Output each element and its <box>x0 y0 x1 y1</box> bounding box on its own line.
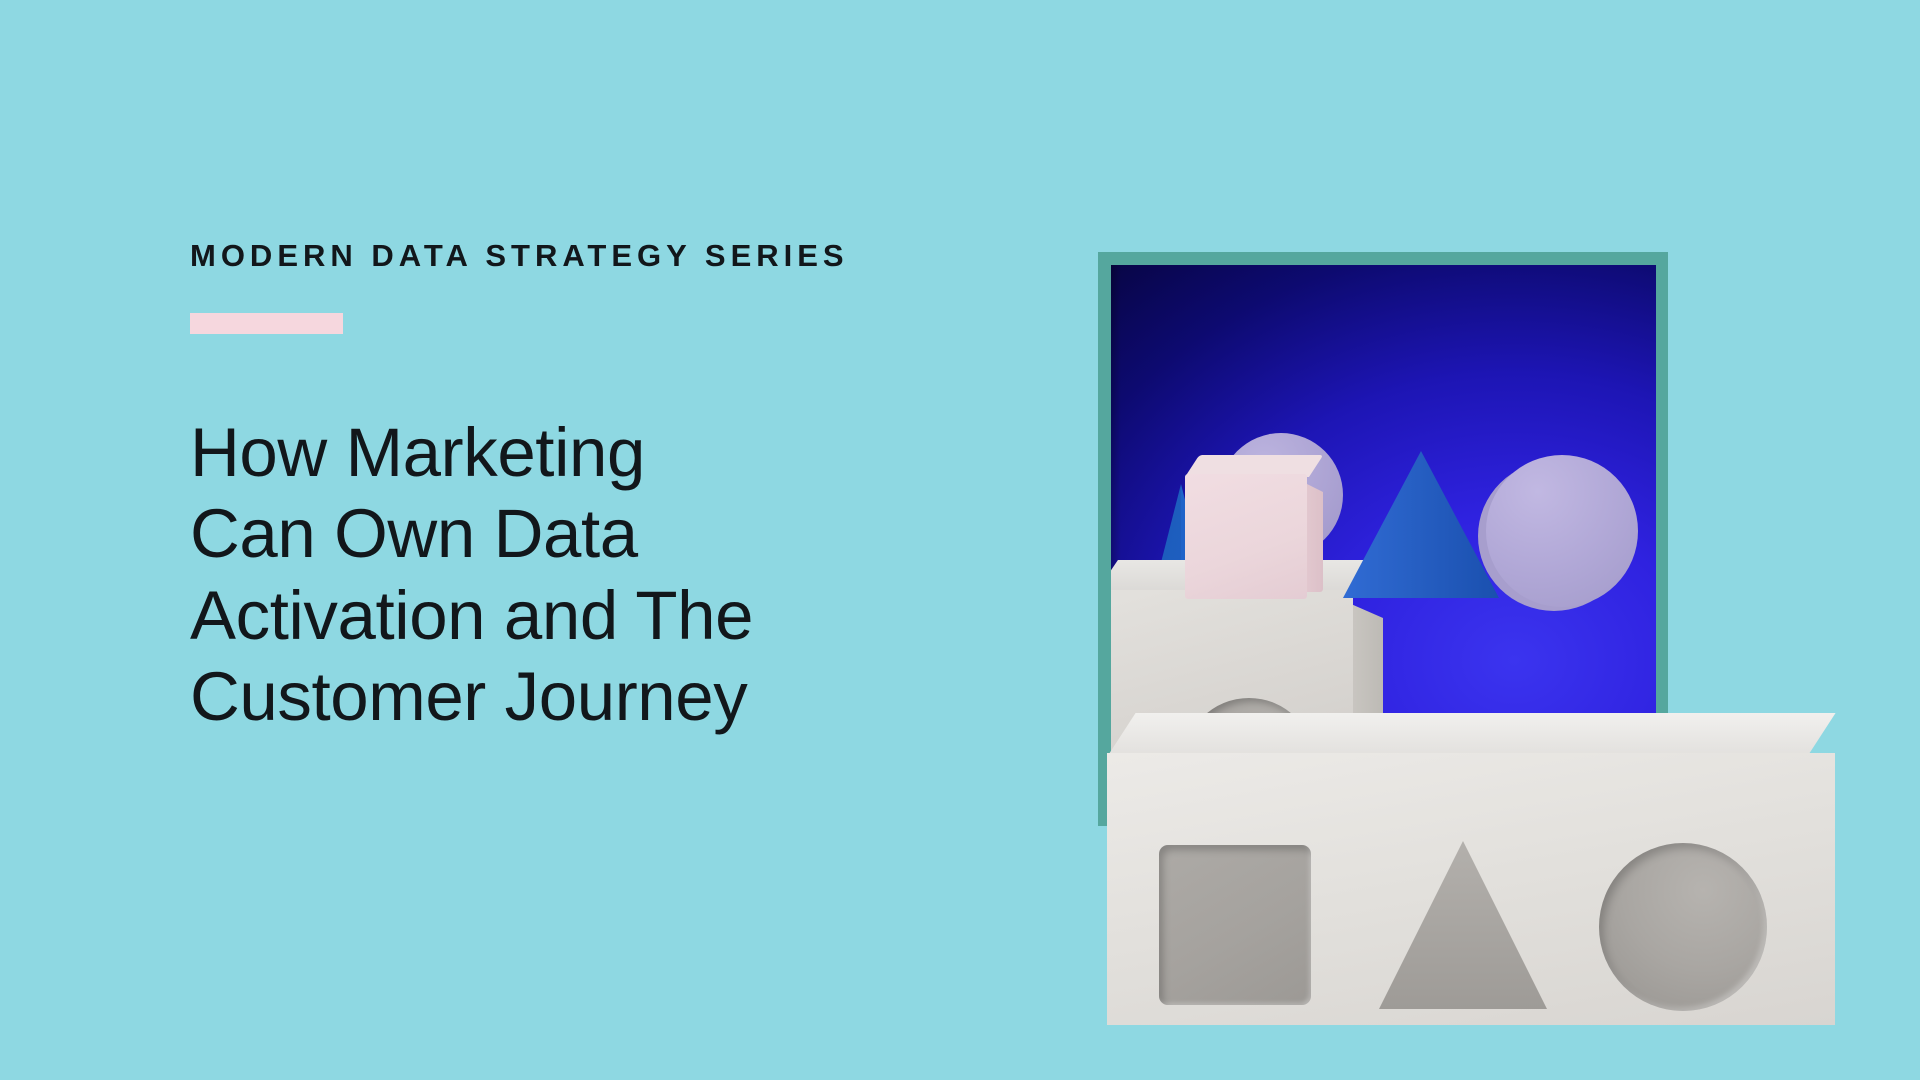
white-bar-front-face <box>1107 753 1835 1025</box>
pink-cube <box>1185 455 1323 599</box>
page-title: How Marketing Can Own Data Activation an… <box>190 412 950 738</box>
eyebrow-series-label: MODERN DATA STRATEGY SERIES <box>190 240 950 271</box>
white-bar-top-face <box>1107 713 1836 757</box>
pink-cube-front-face <box>1185 474 1307 599</box>
poster-canvas: MODERN DATA STRATEGY SERIES How Marketin… <box>0 0 1920 1080</box>
white-bar-circle-hole <box>1599 843 1767 1011</box>
headline-line-4: Customer Journey <box>190 656 950 737</box>
white-sorter-bar <box>1107 713 1835 1025</box>
white-bar-square-hole <box>1159 845 1311 1005</box>
headline-line-1: How Marketing <box>190 412 950 493</box>
headline-line-3: Activation and The <box>190 575 950 656</box>
white-bar-triangle-hole <box>1379 841 1547 1009</box>
pink-accent-bar <box>190 313 343 334</box>
lavender-disc-right <box>1486 455 1638 607</box>
headline-line-2: Can Own Data <box>190 493 950 574</box>
hero-illustration <box>1085 0 1920 1080</box>
text-column: MODERN DATA STRATEGY SERIES How Marketin… <box>190 240 950 784</box>
